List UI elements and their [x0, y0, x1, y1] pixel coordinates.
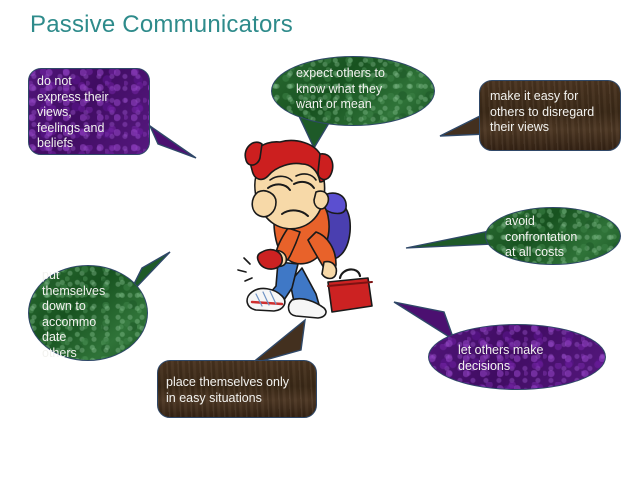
bubble-let-others-decide-text: let others make decisions — [458, 343, 598, 374]
bubble-tail-do-not-express — [150, 120, 210, 170]
sad-boy-with-backpack-illustration — [232, 136, 374, 326]
bubble-do-not-express-text: do not express their views, feelings and… — [37, 74, 149, 152]
bubble-put-themselves-down-text: put themselves down to accommo date othe… — [42, 268, 134, 361]
bubble-expect-others-text: expect others to know what they want or … — [296, 66, 426, 113]
bubble-place-themselves-text: place themselves only in easy situations — [166, 375, 316, 406]
slide-canvas: Passive Communicators do not express the… — [0, 0, 638, 478]
bubble-avoid-confrontation-text: avoid confrontation at all costs — [505, 214, 617, 261]
bubble-make-it-easy-text: make it easy for others to disregard the… — [490, 89, 618, 136]
page-title: Passive Communicators — [30, 11, 293, 39]
